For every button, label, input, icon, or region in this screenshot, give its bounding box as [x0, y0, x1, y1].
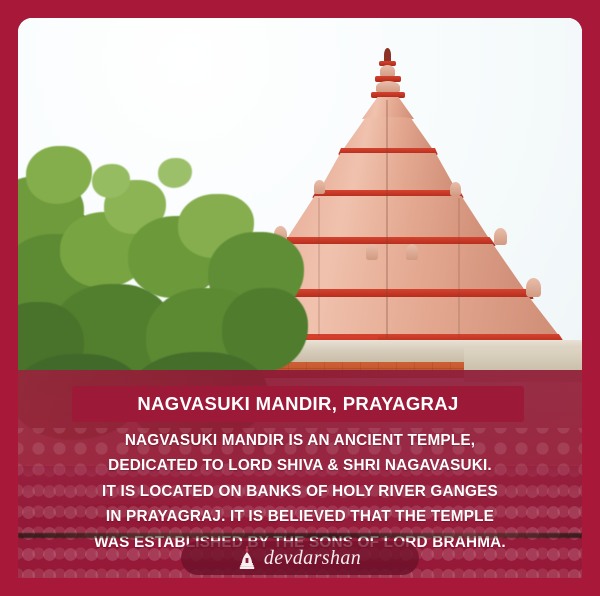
- poster-canvas: NAGVASUKI MANDIR, PRAYAGRAJ NAGVASUKI MA…: [0, 0, 600, 596]
- footer-bar: devdarshan: [18, 538, 582, 578]
- temple-shrine-icon: [239, 546, 255, 570]
- page-title: NAGVASUKI MANDIR, PRAYAGRAJ: [137, 393, 458, 415]
- brand-lockup[interactable]: devdarshan: [181, 541, 419, 575]
- brand-name: devdarshan: [264, 547, 361, 570]
- foliage-trees: [18, 138, 308, 388]
- info-panel: NAGVASUKI MANDIR, PRAYAGRAJ NAGVASUKI MA…: [18, 370, 582, 578]
- description-line: IT IS LOCATED ON BANKS OF HOLY RIVER GAN…: [36, 479, 564, 504]
- poster-card: NAGVASUKI MANDIR, PRAYAGRAJ NAGVASUKI MA…: [18, 18, 582, 578]
- description-line: IN PRAYAGRAJ. IT IS BELIEVED THAT THE TE…: [36, 504, 564, 529]
- description-line: NAGVASUKI MANDIR IS AN ANCIENT TEMPLE,: [36, 428, 564, 453]
- title-chip: NAGVASUKI MANDIR, PRAYAGRAJ: [72, 386, 524, 422]
- description-line: DEDICATED TO LORD SHIVA & SHRI NAGAVASUK…: [36, 453, 564, 478]
